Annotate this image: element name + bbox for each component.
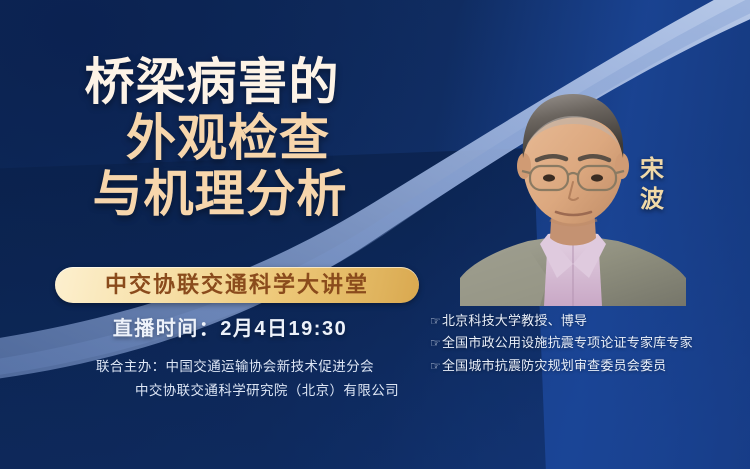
pointing-hand-icon: ☞ [430,311,441,332]
credential-text: 全国市政公用设施抗震专项论证专家库专家 [442,332,693,354]
speaker-name-char-1: 宋 [625,155,681,185]
webinar-poster: 桥梁病害的 外观检查 与机理分析 中交协联交通科学大讲堂 直播时间：2月4日19… [0,0,750,469]
series-banner: 中交协联交通科学大讲堂 [55,267,419,303]
title-line-2: 外观检查 [26,113,430,163]
organizer-line-2: 中交协联交通科学研究院（北京）有限公司 [0,379,470,403]
title-line-3: 与机理分析 [10,169,430,219]
speaker-name-char-2: 波 [625,185,681,215]
credential-text: 北京科技大学教授、博导 [442,310,587,332]
series-banner-label: 中交协联交通科学大讲堂 [105,274,369,296]
credential-item: ☞ 全国市政公用设施抗震专项论证专家库专家 [430,332,750,354]
credential-item: ☞ 北京科技大学教授、博导 [430,310,750,332]
title-line-1: 桥梁病害的 [0,57,430,107]
pointing-hand-icon: ☞ [430,356,441,377]
pointing-hand-icon: ☞ [430,333,441,354]
credential-text: 全国城市抗震防灾规划审查委员会委员 [442,355,666,377]
speaker-name: 宋 波 [625,155,681,215]
credential-item: ☞ 全国城市抗震防灾规划审查委员会委员 [430,355,750,377]
live-time-text: 直播时间：2月4日19:30 [0,312,460,341]
organizer-line-1: 联合主办：中国交通运输协会新技术促进分会 [0,355,470,379]
poster-title: 桥梁病害的 外观检查 与机理分析 [0,57,430,219]
speaker-credentials: ☞ 北京科技大学教授、博导 ☞ 全国市政公用设施抗震专项论证专家库专家 ☞ 全国… [430,310,750,377]
organizer-block: 联合主办：中国交通运输协会新技术促进分会 中交协联交通科学研究院（北京）有限公司 [0,355,470,402]
